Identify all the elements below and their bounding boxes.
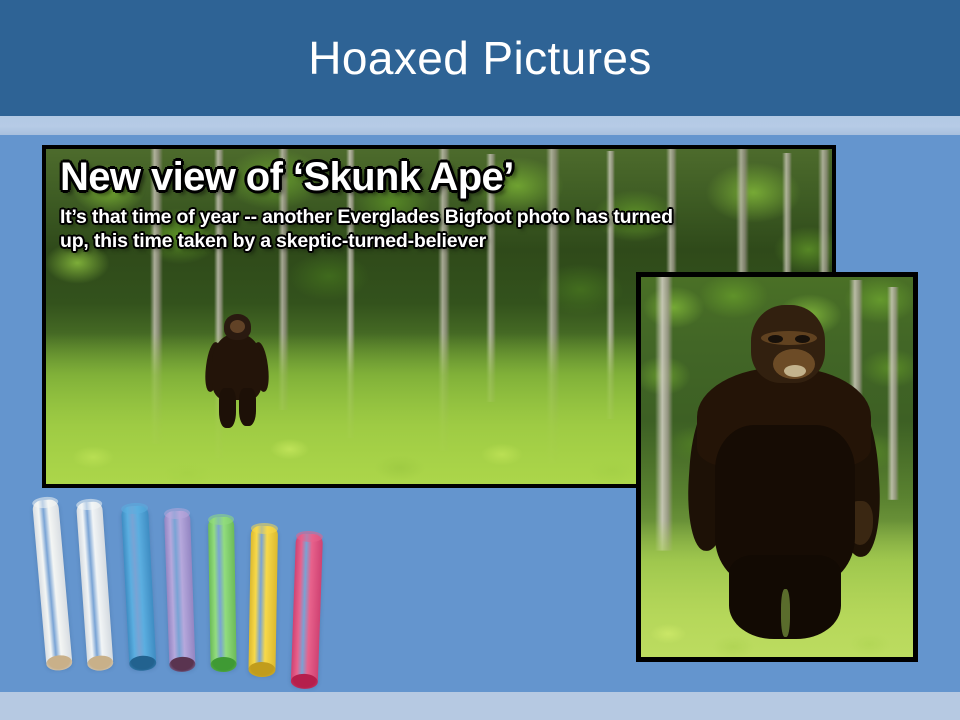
bigfoot-right-leg [239,388,256,426]
chalk-white-1-bottom-end [46,654,73,671]
chalk-yellow-bottom-end [248,662,275,677]
newspaper-caption-block: New view of ‘Skunk Ape’ It’s that time o… [60,155,780,253]
chalk-purple-bottom-end [169,656,196,672]
chalk-white-1-body [32,499,73,669]
bigfoot-closeup-leg-gap [781,589,790,637]
chalk-pink-bottom-end [291,673,319,689]
chalk-pink-body [291,534,323,687]
bigfoot-face [230,320,245,333]
chalk-yellow-body [248,526,278,674]
chalk-sticks-image [24,492,354,702]
newspaper-subhead: It’s that time of year -- another Evergl… [60,205,700,253]
chalk-white-2 [76,501,114,668]
bigfoot-torso [212,334,262,400]
chalk-white-1 [32,499,73,669]
newspaper-headline: New view of ‘Skunk Ape’ [60,155,780,199]
chalk-blue-body [121,505,156,668]
title-bar-accent-stripe [0,116,960,135]
chalk-yellow-top-end [251,523,278,534]
slide-canvas: Hoaxed Pictures New view of ‘Skunk Ape’ … [0,0,960,720]
chalk-purple-body [164,511,195,670]
chalk-blue-bottom-end [129,655,157,671]
chalk-pink [291,534,323,687]
bigfoot-figure-distant [206,314,268,426]
chalk-yellow [248,526,278,674]
chalk-green [208,517,237,669]
chalk-purple [164,511,195,670]
bigfoot-left-leg [219,388,236,428]
chalk-green-bottom-end [210,657,236,672]
chalk-white-2-bottom-end [87,655,114,672]
chalk-blue [121,505,156,668]
skunk-ape-closeup-photo[interactable] [636,272,918,662]
bigfoot-closeup-mouth [784,365,806,377]
bigfoot-closeup-right-eye [795,335,810,343]
bigfoot-closeup-left-eye [768,335,783,343]
page-title: Hoaxed Pictures [0,0,960,116]
chalk-green-body [208,517,237,669]
bigfoot-figure-closeup [689,305,879,635]
chalk-white-2-body [76,501,114,668]
